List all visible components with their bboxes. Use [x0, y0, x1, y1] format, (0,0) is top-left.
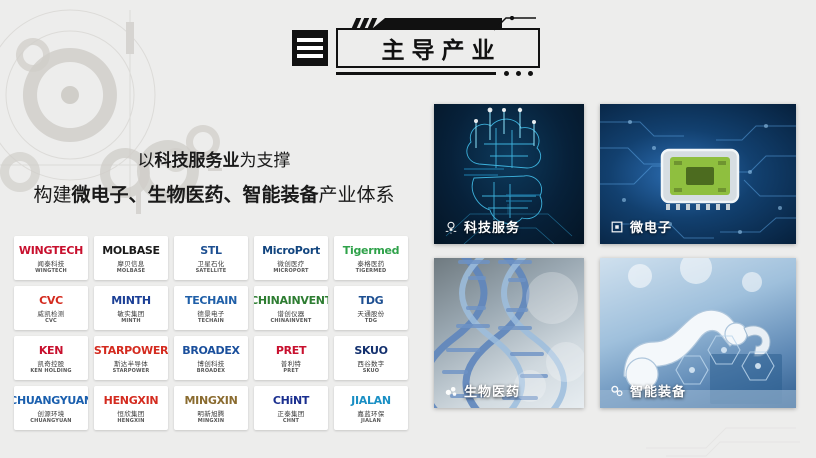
logo-card[interactable]: BROADEX博创科技BROADEX [174, 336, 248, 380]
logo-wordmark: KEN [39, 345, 63, 356]
pret-logo-icon: PRET [276, 342, 306, 360]
logo-name-en: JIALAN [361, 418, 381, 424]
logo-card[interactable]: HENGXIN恒欣集团HENGXIN [94, 386, 168, 430]
logo-name-cn: 凯奇控股 [37, 361, 64, 368]
title-underline [336, 72, 496, 75]
logo-wordmark: TDG [359, 295, 384, 306]
industry-card-label: 智能装备 [610, 381, 686, 400]
title-deco-dot [504, 71, 509, 76]
logo-card[interactable]: TECHAIN德景电子TECHAIN [174, 286, 248, 330]
logo-name-cn: 闻泰科技 [37, 261, 64, 268]
chuangyuan-logo-icon: CHUANGYUAN [14, 392, 88, 410]
logo-wordmark: TECHAIN [185, 295, 237, 306]
slogan-line-2: 构建微电子、生物医药、智能装备产业体系 [14, 180, 414, 210]
slogan-l1-suffix: 为支撑 [240, 151, 291, 171]
slogan-l1-prefix: 以 [138, 151, 155, 171]
logo-wordmark: MicroPort [262, 245, 320, 256]
industry-label-text: 生物医药 [464, 381, 520, 400]
slogan-l2-bold: 微电子、生物医药、智能装备 [71, 184, 318, 206]
industry-card-smart-equipment[interactable]: 智能装备 [600, 258, 796, 408]
logo-wordmark: STARPOWER [94, 345, 168, 356]
logo-wordmark: CHiNT [273, 395, 309, 406]
techain-logo-icon: TECHAIN [185, 292, 237, 310]
logo-name-cn: 西谷数字 [357, 361, 384, 368]
logo-card[interactable]: Tigermed泰格医药TIGERMED [334, 236, 408, 280]
logo-name-cn: 嘉蓝环保 [357, 411, 384, 418]
logo-wordmark: PRET [276, 345, 306, 356]
logo-name-en: BROADEX [197, 368, 225, 374]
skuo-logo-icon: SKUO [354, 342, 387, 360]
broadex-logo-icon: BROADEX [182, 342, 239, 360]
industry-card-label: 生物医药 [444, 381, 520, 400]
stl-logo-icon: STL [200, 242, 222, 260]
logo-wordmark: SKUO [354, 345, 387, 356]
logo-name-cn: 卫星石化 [197, 261, 224, 268]
logo-card[interactable]: MINTH敏实集团MINTH [94, 286, 168, 330]
logo-card[interactable]: JIALAN嘉蓝环保JIALAN [334, 386, 408, 430]
logo-card[interactable]: SKUO西谷数字SKUO [334, 336, 408, 380]
logo-card[interactable]: MINGXIN明新旭腾MINGXIN [174, 386, 248, 430]
industry-photo-grid: 科技服务 [434, 104, 802, 422]
logo-name-en: STARPOWER [113, 368, 150, 374]
title-deco-dot [516, 71, 521, 76]
logo-name-en: MICROPORT [273, 268, 308, 274]
logo-wordmark: MINTH [111, 295, 150, 306]
logo-card[interactable]: MicroPort微创医疗MICROPORT [254, 236, 328, 280]
logo-name-cn: 斯达半导体 [114, 361, 148, 368]
logo-wordmark: STL [200, 245, 222, 256]
logo-name-en: SKUO [363, 368, 380, 374]
logo-card[interactable]: CHINAINVENT谱创仪器CHINAINVENT [254, 286, 328, 330]
molbase-logo-icon: MOLBASE [102, 242, 160, 260]
minth-logo-icon: MINTH [111, 292, 150, 310]
logo-name-cn: 明新旭腾 [197, 411, 224, 418]
slogan-l1-bold: 科技服务业 [155, 151, 240, 171]
logo-name-cn: 创源环境 [37, 411, 64, 418]
ken-logo-icon: KEN [39, 342, 63, 360]
title-deco-dot [528, 71, 533, 76]
jialan-logo-icon: JIALAN [351, 392, 391, 410]
cvc-logo-icon: CVC [39, 292, 63, 310]
logo-wordmark: HENGXIN [104, 395, 159, 406]
logo-wordmark: CVC [39, 295, 63, 306]
logo-card[interactable]: CHUANGYUAN创源环境CHUANGYUAN [14, 386, 88, 430]
logo-wordmark: CHINAINVENT [254, 295, 328, 306]
company-logo-grid: WINGTECH闻泰科技WINGTECHMOLBASE摩贝信息MOLBASEST… [14, 236, 408, 430]
logo-wordmark: BROADEX [182, 345, 239, 356]
logo-name-en: TDG [365, 318, 377, 324]
logo-card[interactable]: WINGTECH闻泰科技WINGTECH [14, 236, 88, 280]
lightbulb-network-icon [444, 220, 458, 234]
logo-name-en: KEN HOLDING [30, 368, 71, 374]
industry-card-tech-service[interactable]: 科技服务 [434, 104, 584, 244]
logo-name-cn: 德景电子 [197, 311, 224, 318]
industry-card-microelectronics[interactable]: 微电子 [600, 104, 796, 244]
logo-name-cn: 正泰集团 [277, 411, 304, 418]
gears-icon [610, 384, 624, 398]
tigermed-logo-icon: Tigermed [343, 242, 399, 260]
logo-card[interactable]: CHiNT正泰集团CHNT [254, 386, 328, 430]
industry-card-biomedicine[interactable]: 生物医药 [434, 258, 584, 408]
logo-wordmark: Tigermed [343, 245, 399, 256]
logo-wordmark: JIALAN [351, 395, 391, 406]
logo-card[interactable]: STL卫星石化SATELLITE [174, 236, 248, 280]
logo-wordmark: WINGTECH [19, 245, 83, 256]
logo-name-cn: 恒欣集团 [117, 411, 144, 418]
industry-card-label: 微电子 [610, 217, 672, 236]
tdg-logo-icon: TDG [359, 292, 384, 310]
wingtech-logo-icon: WINGTECH [19, 242, 83, 260]
logo-name-en: MINGXIN [198, 418, 224, 424]
logo-name-en: TECHAIN [198, 318, 224, 324]
logo-name-cn: 泰格医药 [357, 261, 384, 268]
list-menu-icon [292, 30, 328, 66]
logo-name-en: CHNT [283, 418, 299, 424]
logo-name-cn: 博创科技 [197, 361, 224, 368]
industry-label-text: 微电子 [630, 217, 672, 236]
logo-name-en: MOLBASE [117, 268, 146, 274]
logo-name-cn: 威凯检测 [37, 311, 64, 318]
molecule-cluster-icon [444, 384, 458, 398]
slogan-l2-prefix: 构建 [33, 184, 71, 206]
logo-name-en: WINGTECH [35, 268, 67, 274]
starpower-logo-icon: STARPOWER [94, 342, 168, 360]
page-header: 主导产业 [292, 12, 544, 78]
logo-name-cn: 天通股份 [357, 311, 384, 318]
logo-card[interactable]: STARPOWER斯达半导体STARPOWER [94, 336, 168, 380]
slogan-line-1: 以科技服务业为支撑 [14, 148, 414, 174]
logo-card[interactable]: CVC威凯检测CVC [14, 286, 88, 330]
page-title: 主导产业 [336, 28, 540, 68]
chinainvent-logo-icon: CHINAINVENT [254, 292, 328, 310]
logo-name-cn: 摩贝信息 [117, 261, 144, 268]
logo-name-en: CHINAINVENT [271, 318, 312, 324]
industry-label-text: 智能装备 [630, 381, 686, 400]
logo-name-en: MINTH [121, 318, 141, 324]
logo-card[interactable]: TDG天通股份TDG [334, 286, 408, 330]
logo-name-en: CVC [45, 318, 57, 324]
slogan-block: 以科技服务业为支撑 构建微电子、生物医药、智能装备产业体系 [14, 148, 414, 210]
logo-wordmark: MOLBASE [102, 245, 160, 256]
logo-name-en: PRET [283, 368, 298, 374]
hengxin-logo-icon: HENGXIN [104, 392, 159, 410]
microport-logo-icon: MicroPort [262, 242, 320, 260]
slogan-l2-suffix: 产业体系 [319, 184, 395, 206]
logo-name-en: SATELLITE [196, 268, 227, 274]
logo-name-cn: 谱创仪器 [277, 311, 304, 318]
industry-card-label: 科技服务 [444, 217, 520, 236]
logo-card[interactable]: PRET普利特PRET [254, 336, 328, 380]
logo-card[interactable]: MOLBASE摩贝信息MOLBASE [94, 236, 168, 280]
logo-wordmark: MINGXIN [185, 395, 238, 406]
mingxin-logo-icon: MINGXIN [185, 392, 238, 410]
chip-square-icon [610, 220, 624, 234]
logo-name-en: HENGXIN [117, 418, 144, 424]
logo-name-cn: 普利特 [281, 361, 301, 368]
logo-name-en: TIGERMED [356, 268, 387, 274]
logo-name-cn: 微创医疗 [277, 261, 304, 268]
chint-logo-icon: CHiNT [273, 392, 309, 410]
logo-wordmark: CHUANGYUAN [14, 395, 88, 406]
logo-card[interactable]: KEN凯奇控股KEN HOLDING [14, 336, 88, 380]
industry-label-text: 科技服务 [464, 217, 520, 236]
logo-name-en: CHUANGYUAN [30, 418, 71, 424]
logo-name-cn: 敏实集团 [117, 311, 144, 318]
